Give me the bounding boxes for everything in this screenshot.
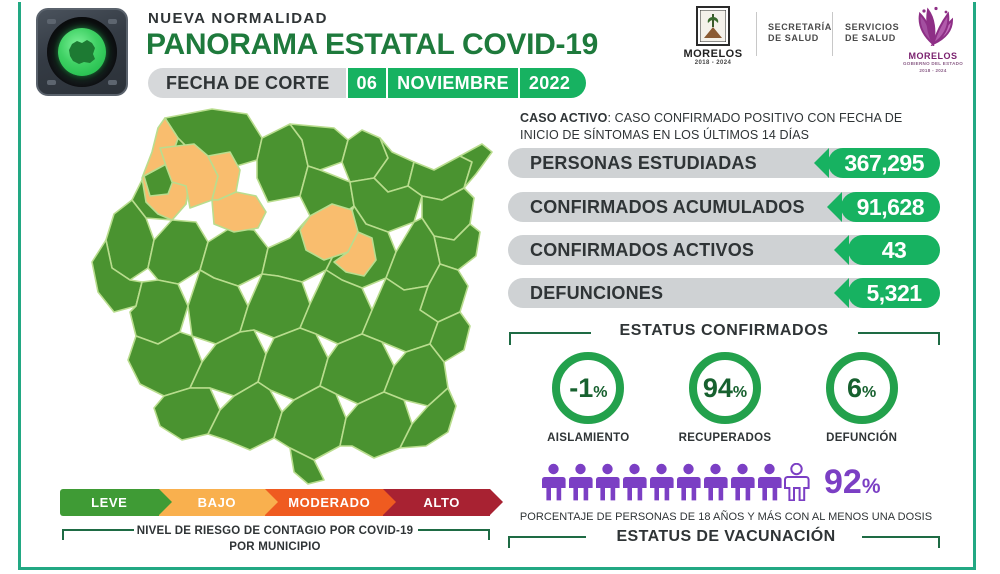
servicios-line-1: SERVICIOS bbox=[845, 22, 899, 32]
stat-label: PERSONAS ESTUDIADAS bbox=[508, 153, 757, 174]
person-icon bbox=[783, 463, 810, 501]
risk-level-legend: LEVE BAJO MODERADO ALTO bbox=[60, 489, 490, 516]
stat-value: 5,321 bbox=[848, 278, 940, 308]
date-year: 2022 bbox=[520, 68, 586, 98]
circle-stat-aislamiento: -1% AISLAMIENTO bbox=[529, 352, 647, 444]
legend-caption: NIVEL DE RIESGO DE CONTAGIO POR COVID-19… bbox=[60, 524, 490, 555]
stat-row-confirmados-activos: CONFIRMADOS ACTIVOS 43 bbox=[508, 235, 940, 265]
secretaria-de-salud-label: SECRETARÍA DE SALUD bbox=[768, 22, 832, 45]
legend-item-leve[interactable]: LEVE bbox=[60, 489, 159, 516]
vaccination-percent: 92% bbox=[824, 465, 881, 499]
vaccination-caption: PORCENTAJE DE PERSONAS DE 18 AÑOS Y MÁS … bbox=[506, 511, 946, 523]
lotus-logo-sub1: GOBIERNO DEL ESTADO bbox=[902, 61, 964, 68]
infographic-root: NUEVA NORMALIDAD PANORAMA ESTATAL COVID-… bbox=[0, 0, 1000, 574]
morelos-government-logo: MORELOS 2018 - 2024 bbox=[682, 6, 744, 66]
legend-caption-line1: NIVEL DE RIESGO DE CONTAGIO POR bbox=[137, 525, 359, 537]
circle-unit: % bbox=[593, 384, 607, 401]
vaccination-row: 92% bbox=[540, 463, 881, 501]
legend-label-alto: ALTO bbox=[423, 495, 460, 510]
circle-stat-recuperados: 94% RECUPERADOS bbox=[666, 352, 784, 444]
morelos-logo-name: MORELOS bbox=[682, 48, 744, 60]
servicios-line-2: DE SALUD bbox=[845, 33, 896, 43]
donut-ring-icon: -1% bbox=[552, 352, 624, 424]
caso-activo-term: CASO ACTIVO bbox=[520, 111, 607, 125]
legend-item-bajo[interactable]: BAJO bbox=[159, 489, 266, 516]
date-label: FECHA DE CORTE bbox=[148, 68, 346, 98]
legend-caption-line2: POR MUNICIPIO bbox=[229, 541, 320, 553]
morelos-logo-years: 2018 - 2024 bbox=[682, 60, 744, 66]
legend-caption-bold: COVID-19 bbox=[359, 525, 414, 537]
estatus-confirmados-circles: -1% AISLAMIENTO 94% RECUPERADOS 6% DEFUN… bbox=[520, 352, 930, 444]
caso-activo-note: CASO ACTIVO: CASO CONFIRMADO POSITIVO CO… bbox=[520, 110, 940, 144]
person-icon bbox=[756, 463, 783, 501]
person-icon bbox=[648, 463, 675, 501]
stat-label: DEFUNCIONES bbox=[508, 283, 663, 304]
stat-label: CONFIRMADOS ACUMULADOS bbox=[508, 197, 805, 218]
circle-value: -1 bbox=[569, 373, 593, 403]
legend-item-moderado[interactable]: MODERADO bbox=[265, 489, 383, 516]
circle-label: RECUPERADOS bbox=[666, 432, 784, 444]
morelos-lotus-logo: MORELOS GOBIERNO DEL ESTADO 2018 - 2024 bbox=[902, 6, 964, 75]
logo-divider-1 bbox=[756, 12, 757, 56]
person-icon bbox=[729, 463, 756, 501]
secretaria-line-2: DE SALUD bbox=[768, 33, 819, 43]
vaccination-percent-value: 92 bbox=[824, 463, 862, 501]
person-icon bbox=[702, 463, 729, 501]
lotus-logo-name: MORELOS bbox=[902, 51, 964, 61]
circle-label: AISLAMIENTO bbox=[529, 432, 647, 444]
legend-label-bajo: BAJO bbox=[198, 495, 237, 510]
stat-row-personas-estudiadas: PERSONAS ESTUDIADAS 367,295 bbox=[508, 148, 940, 178]
stat-row-confirmados-acumulados: CONFIRMADOS ACUMULADOS 91,628 bbox=[508, 192, 940, 222]
stat-label: CONFIRMADOS ACTIVOS bbox=[508, 240, 754, 261]
circle-unit: % bbox=[733, 384, 747, 401]
legend-label-leve: LEVE bbox=[91, 495, 127, 510]
circle-stat-defuncion: 6% DEFUNCIÓN bbox=[803, 352, 921, 444]
vaccination-people-pictogram bbox=[540, 463, 810, 501]
donut-ring-icon: 6% bbox=[826, 352, 898, 424]
circle-value: 94 bbox=[703, 373, 733, 403]
stat-value: 91,628 bbox=[841, 192, 940, 222]
person-icon bbox=[540, 463, 567, 501]
circle-label: DEFUNCIÓN bbox=[803, 432, 921, 444]
estatus-bracket-right bbox=[858, 332, 940, 345]
vaccination-percent-unit: % bbox=[862, 475, 881, 498]
lotus-icon bbox=[906, 6, 960, 46]
morelos-municipalities-map[interactable] bbox=[62, 100, 502, 485]
stat-row-defunciones: DEFUNCIONES 5,321 bbox=[508, 278, 940, 308]
person-icon bbox=[675, 463, 702, 501]
page-title: PANORAMA ESTATAL COVID-19 bbox=[146, 28, 598, 62]
secretaria-line-1: SECRETARÍA bbox=[768, 22, 832, 32]
traffic-light-green-state-icon bbox=[36, 8, 128, 96]
legend-label-moderado: MODERADO bbox=[288, 495, 370, 510]
legend-item-alto[interactable]: ALTO bbox=[383, 489, 490, 516]
header-kicker: NUEVA NORMALIDAD bbox=[148, 10, 328, 27]
morelos-shield-icon bbox=[696, 6, 730, 46]
person-icon bbox=[621, 463, 648, 501]
date-bar: FECHA DE CORTE 06 NOVIEMBRE 2022 bbox=[148, 68, 586, 98]
logo-divider-2 bbox=[832, 12, 833, 56]
person-icon bbox=[594, 463, 621, 501]
vaccination-title: ESTATUS DE VACUNACIÓN bbox=[506, 528, 946, 546]
estatus-bracket-left bbox=[509, 332, 591, 345]
donut-ring-icon: 94% bbox=[689, 352, 761, 424]
lotus-logo-sub2: 2018 - 2024 bbox=[902, 68, 964, 75]
date-month: NOVIEMBRE bbox=[388, 68, 518, 98]
person-icon bbox=[567, 463, 594, 501]
circle-unit: % bbox=[862, 384, 876, 401]
date-day: 06 bbox=[348, 68, 387, 98]
servicios-de-salud-label: SERVICIOS DE SALUD bbox=[845, 22, 899, 45]
stat-value: 367,295 bbox=[828, 148, 940, 178]
stat-value: 43 bbox=[848, 235, 940, 265]
circle-value: 6 bbox=[847, 373, 862, 403]
